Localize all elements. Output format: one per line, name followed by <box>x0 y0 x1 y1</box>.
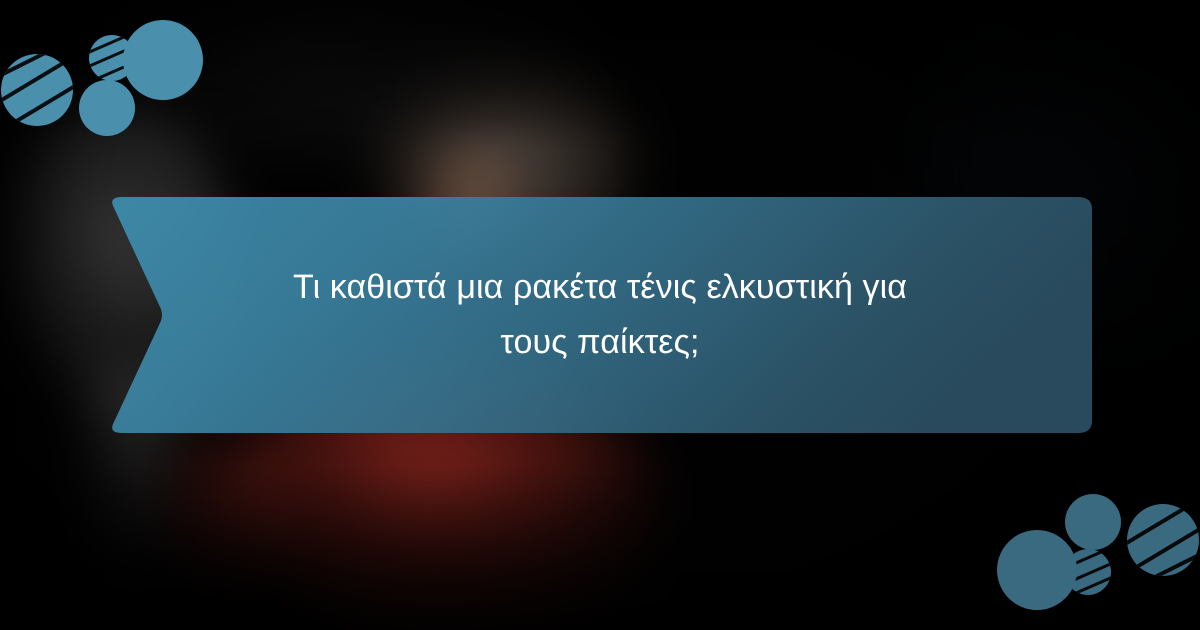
social-share-card: Τι καθιστά μια ρακέτα τένις ελκυστική γι… <box>0 0 1200 630</box>
banner-line-2: τους παίκτες; <box>500 315 699 370</box>
title-banner: Τι καθιστά μια ρακέτα τένις ελκυστική γι… <box>108 197 1092 433</box>
banner-question-text: Τι καθιστά μια ρακέτα τένις ελκυστική γι… <box>108 197 1092 433</box>
banner-line-1: Τι καθιστά μια ρακέτα τένις ελκυστική γι… <box>293 260 907 315</box>
